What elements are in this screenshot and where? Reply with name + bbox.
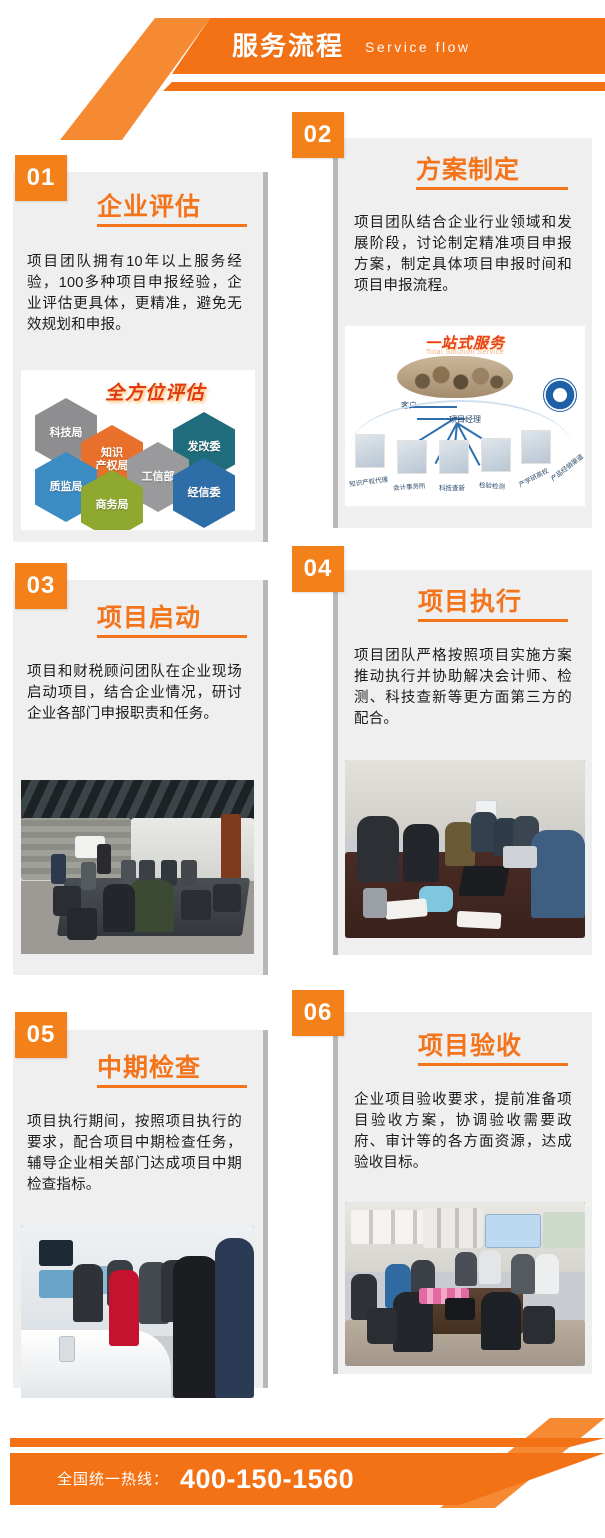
certification-seal-icon: ISO [543, 378, 577, 412]
photo-person [403, 824, 439, 882]
one-stop-thumb [521, 430, 551, 464]
card-body-text: 企业项目验收要求，提前准备项目验收方案，协调验收需要政府、审计等的各方面资源，达… [354, 1090, 572, 1174]
photo-chair [523, 1306, 555, 1344]
card-title: 项目验收 [418, 1026, 522, 1062]
step-badge-04: 04 [292, 546, 344, 592]
one-stop-label: 产品经销渠道 [548, 451, 585, 483]
photo-person [357, 816, 399, 882]
photo-certificate-wall [423, 1208, 483, 1248]
one-stop-label: 会计事务所 [393, 480, 426, 492]
card-title: 中期检查 [97, 1048, 201, 1084]
card-title-rule [97, 1085, 247, 1088]
hex-node-label: 科技局 [50, 427, 83, 440]
photo-laptop [445, 1298, 475, 1320]
card-title-rule [418, 619, 568, 622]
card-body-text: 项目和财税顾问团队在企业现场启动项目，结合企业情况，研讨企业各部门申报职责和任务… [27, 662, 242, 725]
step-number: 05 [27, 1021, 56, 1049]
photo-monitor [39, 1270, 77, 1298]
photo-person [103, 884, 135, 932]
one-stop-hero-photo [397, 356, 513, 398]
card-title: 项目执行 [418, 582, 522, 618]
one-stop-subtitle: Total Solution Service [426, 349, 504, 356]
photo-ceiling-grid [21, 780, 254, 820]
hex-node-label: 经信委 [188, 487, 221, 500]
page-footer: 全国统一热线： 400-150-1560 [0, 1418, 605, 1538]
photo-person [81, 862, 96, 890]
card-photo-04 [345, 760, 585, 938]
photo-paper [384, 898, 427, 920]
card-title-rule [97, 224, 247, 227]
photo-projector-screen [485, 1214, 541, 1248]
header-underline-stripe [150, 82, 605, 91]
footer-stripe [10, 1438, 605, 1447]
card-body-text: 项目团队拥有10年以上服务经验，100多种项目申报经验，企业评估更具体，更精准，… [27, 252, 242, 336]
photo-person-green-coat [129, 880, 174, 932]
page-header: 服务流程 Service flow [0, 0, 605, 120]
card-photo-05 [21, 1226, 254, 1398]
hotline-number[interactable]: 400-150-1560 [180, 1462, 354, 1496]
card-photo-03 [21, 780, 254, 954]
photo-chair [367, 1308, 397, 1344]
photo-person [51, 854, 66, 884]
one-stop-thumb [439, 440, 469, 474]
card-title: 企业评估 [97, 187, 201, 223]
card-title-rule [416, 187, 568, 190]
card-edge-shadow [333, 1012, 338, 1374]
photo-chair [213, 884, 241, 912]
hex-node-label: 知识 产权局 [96, 447, 129, 473]
one-stop-label: 产学研高校 [517, 465, 550, 489]
step-number: 06 [304, 999, 333, 1027]
page-title: 服务流程 [232, 26, 344, 66]
page-subtitle: Service flow [365, 36, 470, 58]
step-number: 04 [304, 555, 333, 583]
photo-whiteboard [543, 1212, 585, 1248]
photo-person-black-jacket [173, 1256, 219, 1398]
photo-paper [457, 911, 502, 929]
card-title-rule [418, 1063, 568, 1066]
card-title: 项目启动 [97, 598, 201, 634]
photo-person [181, 860, 197, 886]
hex-node-label: 工信部 [142, 471, 175, 484]
step-card-06: 项目验收 企业项目验收要求，提前准备项目验收方案，协调验收需要政府、审计等的各方… [338, 1012, 592, 1374]
hex-node-label: 商务局 [96, 499, 129, 512]
one-stop-thumb [481, 438, 511, 472]
step-card-04: 项目执行 项目团队严格按照项目实施方案推动执行并协助解决会计师、检测、科技查新等… [338, 570, 592, 955]
card-body-text: 项目团队结合企业行业领域和发展阶段，讨论制定精准项目申报方案，制定具体项目申报时… [354, 213, 572, 297]
photo-person [73, 1264, 103, 1322]
card-edge-shadow [333, 570, 338, 955]
photo-person [511, 1254, 535, 1294]
one-stop-label: 科技查新 [439, 482, 465, 492]
step-badge-06: 06 [292, 990, 344, 1036]
card-edge-shadow [263, 580, 268, 975]
photo-chair [181, 890, 211, 920]
hex-node-label: 质监局 [50, 481, 83, 494]
step-number: 01 [27, 164, 56, 192]
photo-person-blue [531, 830, 585, 918]
step-badge-01: 01 [15, 155, 67, 201]
photo-person-navy [215, 1238, 254, 1398]
step-card-02: 方案制定 项目团队结合企业行业领域和发展阶段，讨论制定精准项目申报方案，制定具体… [338, 138, 592, 528]
step-card-03: 项目启动 项目和财税顾问团队在企业现场启动项目，结合企业情况，研讨企业各部门申报… [13, 580, 263, 975]
photo-laptop [458, 866, 509, 896]
photo-kettle [363, 888, 387, 918]
one-stop-thumb [355, 434, 385, 468]
step-badge-03: 03 [15, 563, 67, 609]
card-title: 方案制定 [416, 150, 520, 186]
photo-monitor [39, 1240, 73, 1266]
photo-person [97, 844, 111, 874]
step-number: 02 [304, 121, 333, 149]
step-badge-05: 05 [15, 1012, 67, 1058]
step-card-01: 企业评估 项目团队拥有10年以上服务经验，100多种项目申报经验，企业评估更具体… [13, 172, 263, 542]
card-edge-shadow [333, 138, 338, 528]
seal-text: ISO [544, 391, 576, 398]
hex-node-label: 发改委 [188, 441, 221, 454]
card-edge-shadow [263, 1030, 268, 1388]
card-body-text: 项目团队严格按照项目实施方案推动执行并协助解决会计师、检测、科技查新等更方面第三… [354, 646, 572, 730]
one-stop-thumb [397, 440, 427, 474]
photo-person [479, 1250, 501, 1284]
photo-person-front [481, 1292, 521, 1350]
card-photo-06 [345, 1202, 585, 1366]
card-edge-shadow [263, 172, 268, 542]
card-body-text: 项目执行期间，按照项目执行的要求，配合项目中期检查任务，辅导企业相关部门达成项目… [27, 1112, 242, 1196]
card-title-rule [97, 635, 247, 638]
step-badge-02: 02 [292, 112, 344, 158]
hotline-label: 全国统一热线： [57, 1470, 169, 1490]
photo-device [59, 1336, 75, 1362]
one-stop-label: 知识产权代理 [349, 474, 389, 489]
assessment-hex-diagram: 全方位评估 科技局 知识 产权局 发改委 质监局 工信部 商务局 经信委 [21, 370, 255, 530]
hex-diagram-title: 全方位评估 [105, 378, 205, 405]
photo-counter [21, 1330, 171, 1398]
one-stop-label: 检验检测 [479, 479, 506, 491]
photo-person-red-coat [109, 1270, 139, 1346]
photo-person [535, 1254, 559, 1294]
photo-person [455, 1252, 477, 1286]
photo-chair [67, 908, 97, 940]
one-stop-service-diagram: 一站式服务 Total Solution Service 客户 项目经理 ISO… [345, 326, 585, 506]
step-card-05: 中期检查 项目执行期间，按照项目执行的要求，配合项目中期检查任务，辅导企业相关部… [13, 1030, 263, 1388]
step-number: 03 [27, 572, 56, 600]
photo-laptop [503, 846, 537, 868]
